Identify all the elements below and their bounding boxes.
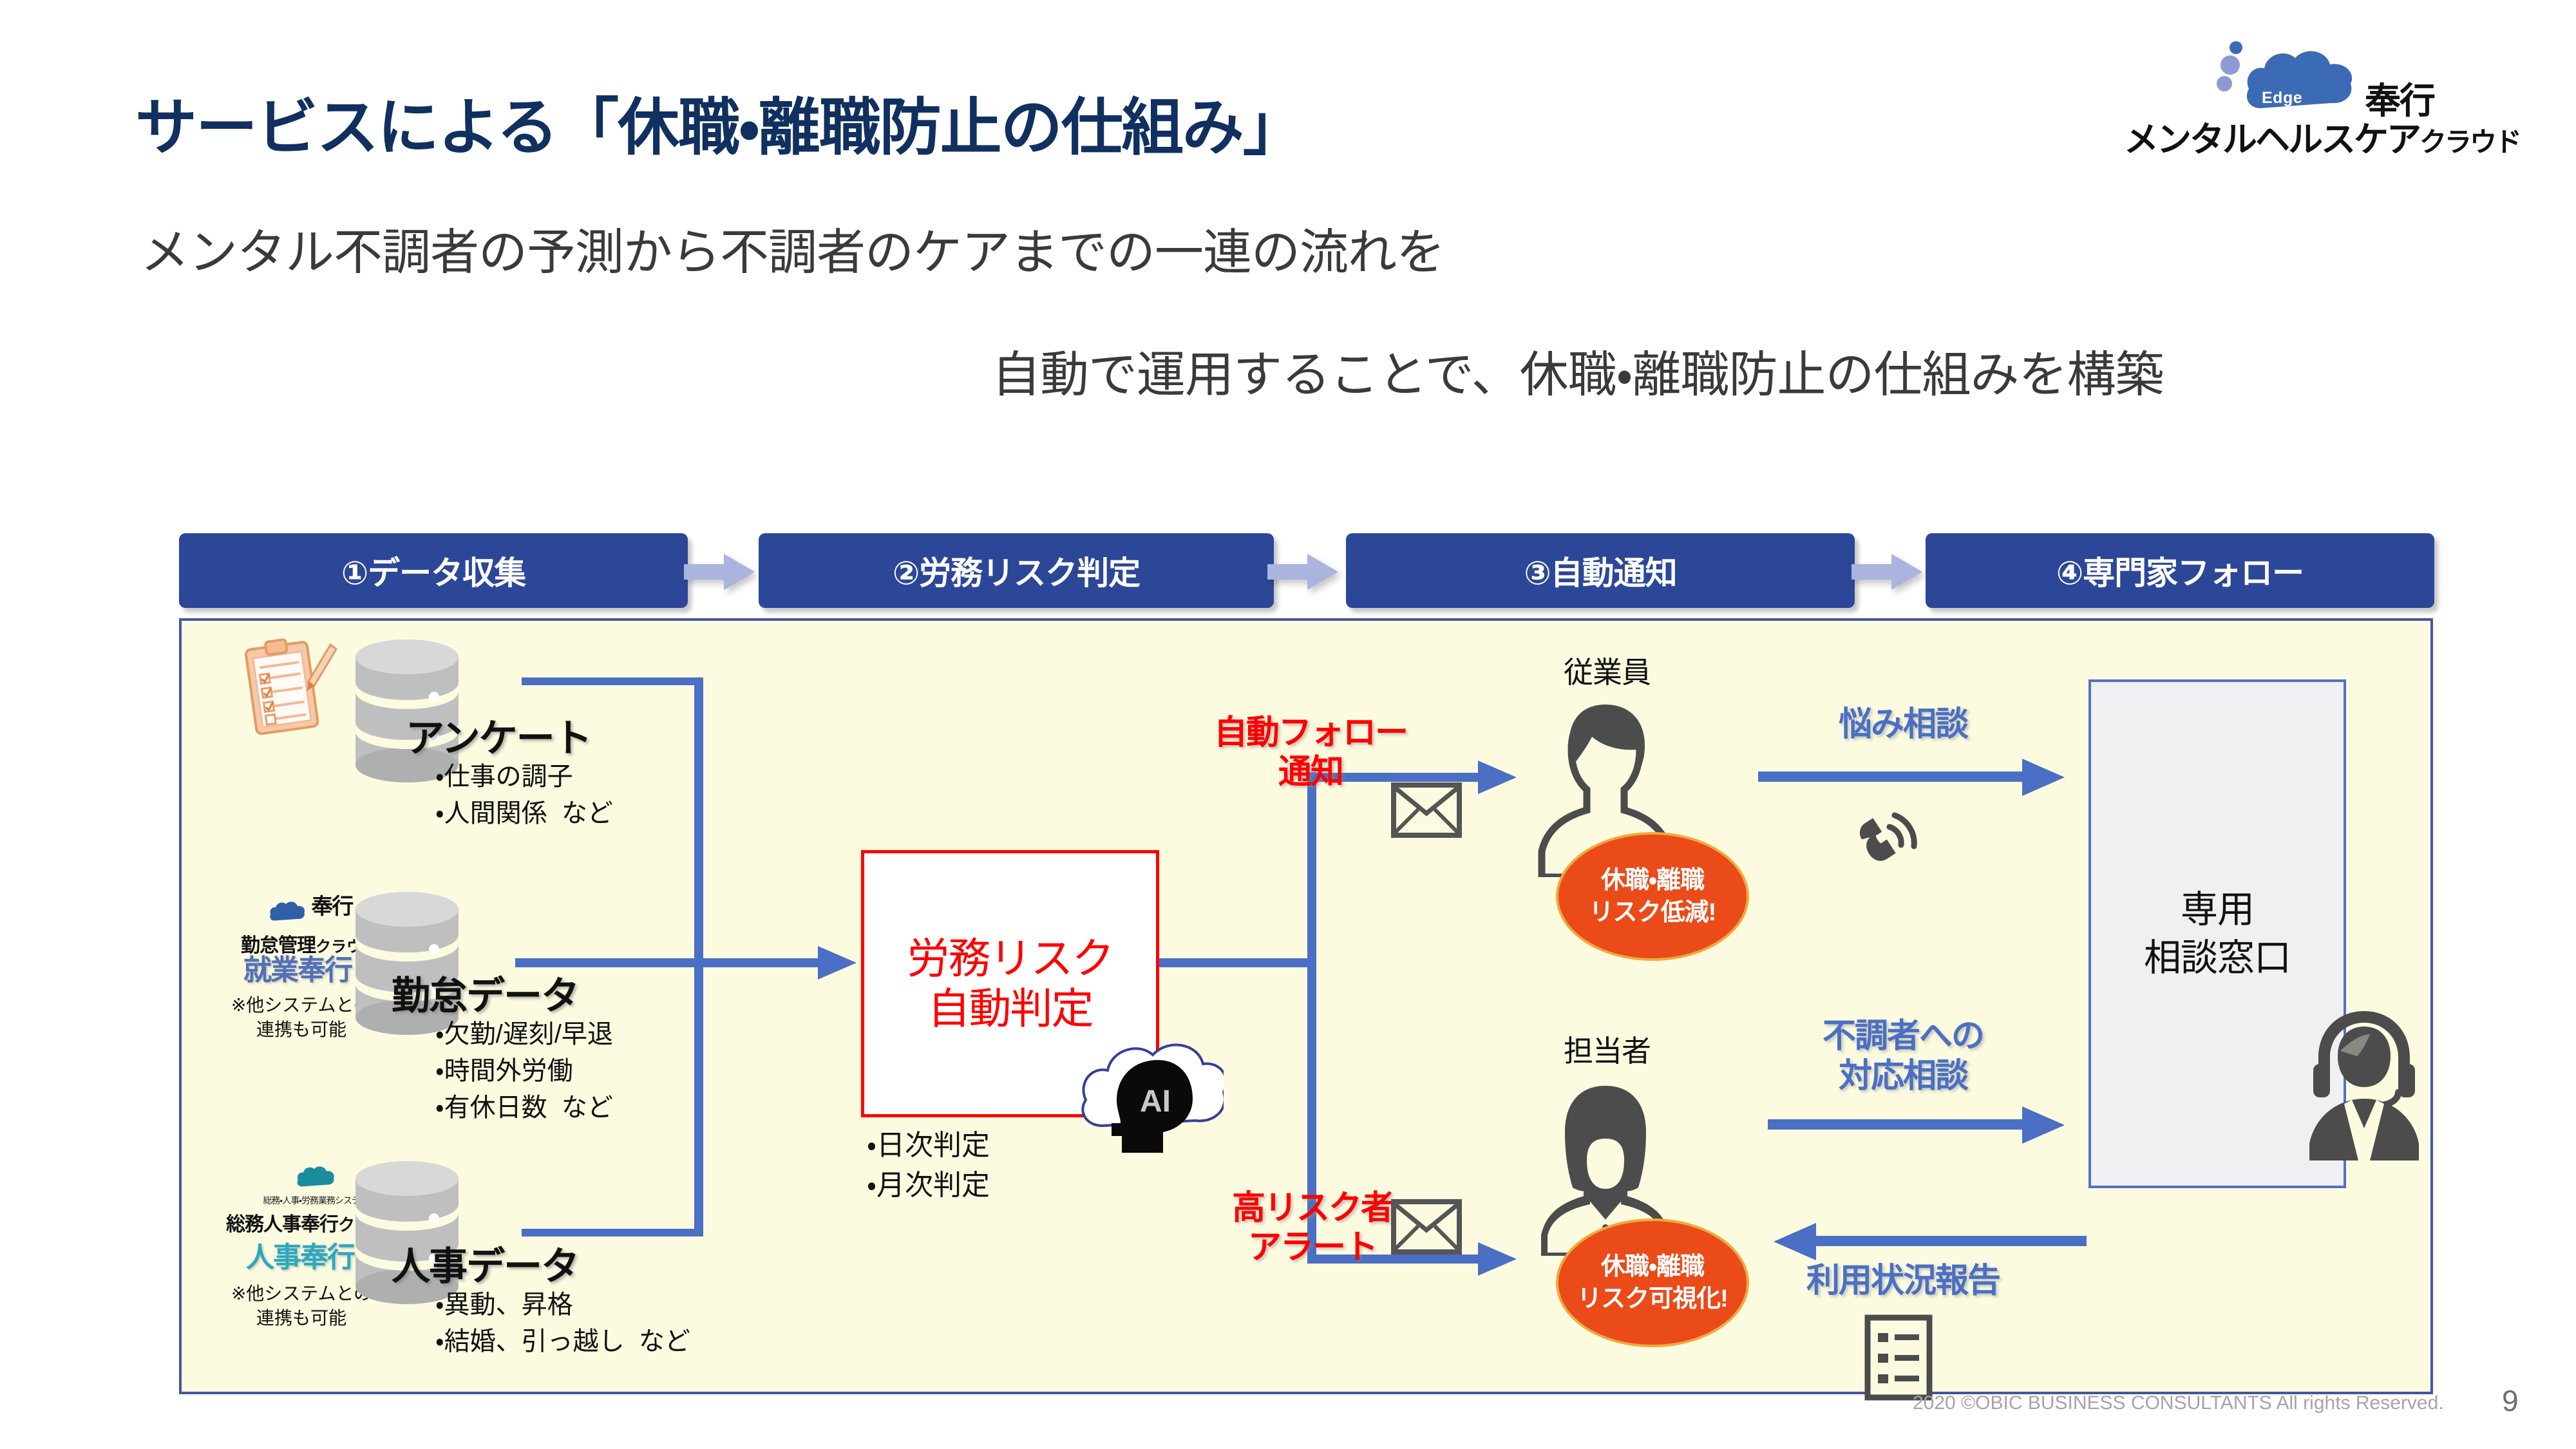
process-step-2[interactable]: ②労務リスク判定 <box>759 533 1274 608</box>
arrowhead-to-manager-icon <box>1478 1236 1524 1282</box>
arrowhead-consult-mid-icon <box>2022 1100 2072 1150</box>
flow-label-response-consult: 不調者への 対応相談 <box>1777 1016 2029 1097</box>
source-name-survey: アンケート <box>406 707 591 763</box>
page-title: サービスによる「休職・離職防止の仕組み」 <box>135 77 1303 167</box>
connector-consult-top <box>1758 772 2041 782</box>
headset-operator-icon <box>2290 1002 2438 1163</box>
notification-caption-manager: 高リスク者 アラート <box>1216 1189 1409 1268</box>
person-label-employee: 従業員 <box>1564 649 1651 692</box>
copyright-footer: 2020 ©OBIC BUSINESS CONSULTANTS All righ… <box>1913 1392 2444 1414</box>
status-badge-risk-reduction: 休職・離職 リスク低減! <box>1556 832 1749 961</box>
source-name-hr: 人事データ <box>392 1235 578 1291</box>
clipboard-checklist-icon <box>233 634 343 744</box>
arrowhead-report-back-icon <box>1766 1217 1816 1267</box>
logo-edge-text: Edge <box>2262 89 2302 108</box>
brand-logo: Edge 奉行 メンタルヘルスケアクラウド <box>2119 39 2531 148</box>
source-bullets-hr: ・異動、昇格 ・結婚、引っ越し など <box>435 1287 690 1360</box>
logo-shugyo-text: 就業奉行 <box>243 954 352 986</box>
cloud-icon-jinji <box>293 1159 338 1194</box>
process-step-3[interactable]: ③自動通知 <box>1346 533 1855 608</box>
chevron-arrow-icon-3 <box>1851 554 1922 590</box>
page-number: 9 <box>2502 1383 2519 1418</box>
consultation-desk-label: 専用 相談窓口 <box>2144 885 2291 983</box>
notification-caption-employee: 自動フォロー 通知 <box>1214 714 1407 793</box>
mail-envelope-icon-employee <box>1391 782 1462 838</box>
judgement-bullets: ・日次判定 ・月次判定 <box>867 1126 990 1206</box>
source-bullets-attendance: ・欠勤/遅刻/早退 ・時間外労働 ・有休日数 など <box>435 1016 613 1126</box>
status-badge-risk-visible: 休職・離職 リスク可視化! <box>1556 1218 1749 1347</box>
person-label-manager: 担当者 <box>1564 1028 1651 1070</box>
flow-label-usage-report: 利用状況報告 <box>1777 1261 2029 1301</box>
risk-judgement-label: 労務リスク 自動判定 <box>907 934 1113 1034</box>
arrowhead-consult-top-icon <box>2022 752 2072 802</box>
report-list-icon <box>1864 1314 1933 1401</box>
logo-jinji-line2: 総務人事奉行 <box>226 1214 338 1235</box>
connector-report-back <box>1810 1236 2087 1246</box>
flow-label-consult: 悩み相談 <box>1797 705 2009 744</box>
arrowhead-to-judgement-icon <box>818 940 864 986</box>
process-step-4[interactable]: ④専門家フォロー <box>1926 533 2434 608</box>
logo-product-suffix: クラウド <box>2420 127 2520 157</box>
chevron-arrow-icon-1 <box>684 554 755 590</box>
phone-ringing-icon <box>1848 792 1926 869</box>
mail-envelope-icon-manager <box>1391 1199 1462 1255</box>
connector-consult-mid <box>1768 1119 2038 1130</box>
connector-to-judgement <box>694 958 829 967</box>
ai-head-icon: AI <box>1103 1056 1206 1159</box>
connector-judgement-output <box>1159 958 1315 967</box>
connector-survey-horizontal <box>522 677 702 685</box>
source-bullets-survey: ・仕事の調子 ・人間関係 など <box>435 759 613 832</box>
arrowhead-to-employee-icon <box>1478 754 1524 800</box>
logo-dot-3 <box>2217 76 2232 91</box>
cloud-icon-kintai <box>266 895 308 928</box>
ai-badge-text: AI <box>1140 1084 1171 1119</box>
logo-jinji-brand-text: 人事奉行 <box>246 1242 354 1273</box>
slide-root: サービスによる「休職・離職防止の仕組み」 メンタル不調者の予測から不調者のケアま… <box>0 0 2576 1449</box>
subtitle-line-2: 自動で運用することで、休職・離職防止の仕組みを構築 <box>992 335 2164 406</box>
logo-product-main: メンタルヘルスケア <box>2124 120 2420 159</box>
logo-kintai-brand: 奉行 <box>311 895 352 919</box>
logo-product-text: メンタルヘルスケアクラウド <box>2124 111 2520 162</box>
connector-vertical-trunk <box>694 677 703 1236</box>
source-name-attendance: 勤怠データ <box>392 965 578 1021</box>
chevron-arrow-icon-2 <box>1267 554 1338 590</box>
process-step-1[interactable]: ①データ収集 <box>179 533 688 608</box>
subtitle-line-1: メンタル不調者の予測から不調者のケアまでの一連の流れを <box>140 213 1444 283</box>
